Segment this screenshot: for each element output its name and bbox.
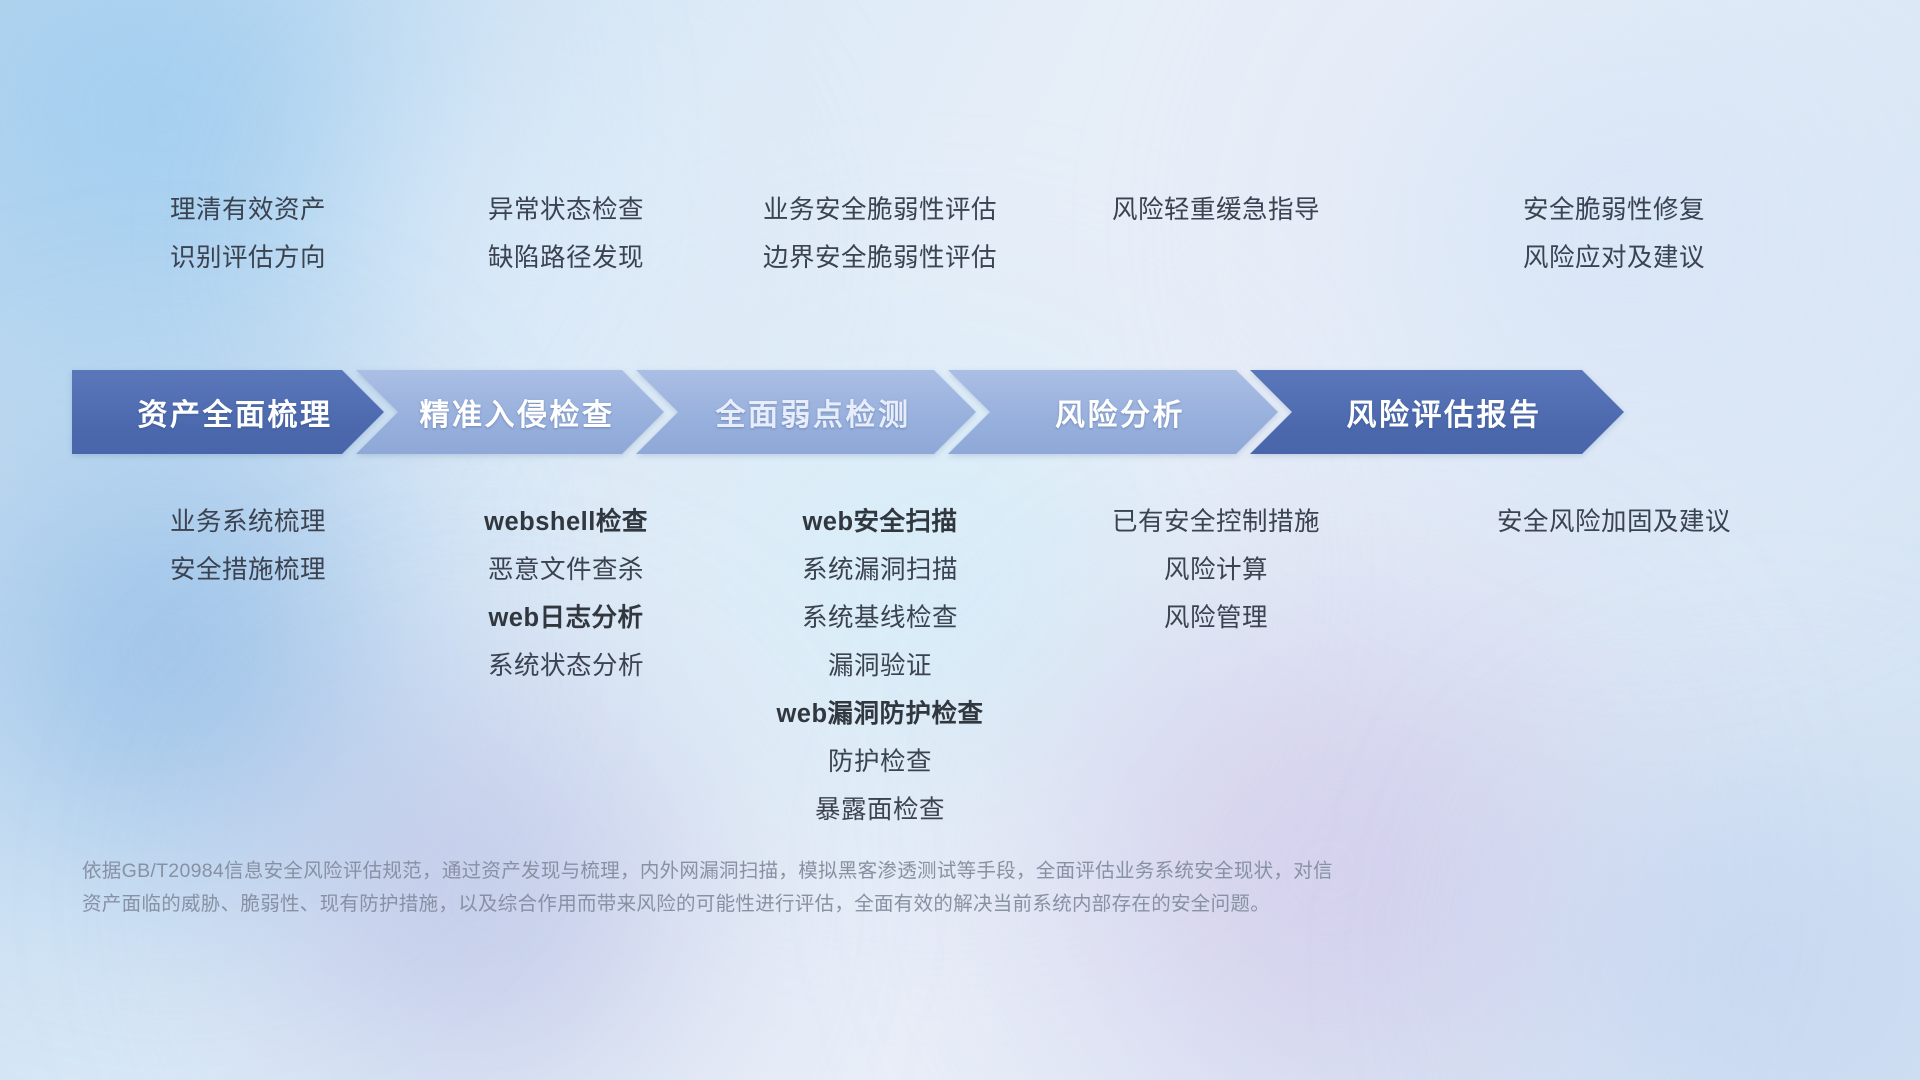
bottom-notes-risk-analysis: 已有安全控制措施 风险计算 风险管理	[1046, 498, 1386, 642]
note-item: 风险轻重缓急指导	[1046, 186, 1386, 234]
chevron-stage-intrusion-check[interactable]: 精准入侵检查	[356, 370, 664, 454]
chevron-label: 资产全面梳理	[124, 390, 333, 434]
note-item: 业务系统梳理	[78, 498, 418, 546]
top-notes-asset-review: 理清有效资产 识别评估方向	[78, 186, 418, 282]
note-item: web漏洞防护检查	[714, 690, 1046, 738]
note-item: 业务安全脆弱性评估	[714, 186, 1046, 234]
note-item: 系统状态分析	[418, 642, 714, 690]
note-item: web日志分析	[418, 594, 714, 642]
note-item: web安全扫描	[714, 498, 1046, 546]
top-notes-risk-report: 安全脆弱性修复 风险应对及建议	[1386, 186, 1842, 282]
note-item: 安全措施梳理	[78, 546, 418, 594]
bottom-notes-weakness-detection: web安全扫描 系统漏洞扫描 系统基线检查 漏洞验证 web漏洞防护检查 防护检…	[714, 498, 1046, 834]
note-item: 缺陷路径发现	[418, 234, 714, 282]
bottom-notes-asset-review: 业务系统梳理 安全措施梳理	[78, 498, 418, 594]
footer-line-1: 依据GB/T20984信息安全风险评估规范，通过资产发现与梳理，内外网漏洞扫描，…	[82, 855, 1542, 888]
note-item: 暴露面检查	[714, 786, 1046, 834]
note-item: 安全脆弱性修复	[1386, 186, 1842, 234]
note-item: 漏洞验证	[714, 642, 1046, 690]
note-item: 风险应对及建议	[1386, 234, 1842, 282]
chevron-stage-risk-analysis[interactable]: 风险分析	[948, 370, 1278, 454]
footer-description: 依据GB/T20984信息安全风险评估规范，通过资产发现与梳理，内外网漏洞扫描，…	[82, 855, 1542, 921]
chevron-label: 风险分析	[1041, 390, 1185, 434]
chevron-band: 资产全面梳理 精准入侵检查 全面弱点检测 风险分析 风险评估报告	[72, 370, 1848, 454]
chevron-stage-weakness-detection[interactable]: 全面弱点检测	[636, 370, 976, 454]
note-item: 识别评估方向	[78, 234, 418, 282]
note-item: 异常状态检查	[418, 186, 714, 234]
top-notes-intrusion-check: 异常状态检查 缺陷路径发现	[418, 186, 714, 282]
note-item: 边界安全脆弱性评估	[714, 234, 1046, 282]
footer-line-2: 资产面临的威胁、脆弱性、现有防护措施，以及综合作用而带来风险的可能性进行评估，全…	[82, 888, 1542, 921]
top-notes-row: 理清有效资产 识别评估方向 异常状态检查 缺陷路径发现 业务安全脆弱性评估 边界…	[78, 186, 1842, 282]
top-notes-risk-analysis: 风险轻重缓急指导	[1046, 186, 1386, 234]
note-item: 安全风险加固及建议	[1386, 498, 1842, 546]
note-item: 风险计算	[1046, 546, 1386, 594]
note-item: 防护检查	[714, 738, 1046, 786]
bottom-notes-risk-report: 安全风险加固及建议	[1386, 498, 1842, 546]
chevron-label: 风险评估报告	[1333, 390, 1542, 434]
note-item: 恶意文件查杀	[418, 546, 714, 594]
chevron-stage-risk-report[interactable]: 风险评估报告	[1250, 370, 1624, 454]
note-item: 系统基线检查	[714, 594, 1046, 642]
note-item: 系统漏洞扫描	[714, 546, 1046, 594]
top-notes-weakness-detection: 业务安全脆弱性评估 边界安全脆弱性评估	[714, 186, 1046, 282]
bottom-notes-intrusion-check: webshell检查 恶意文件查杀 web日志分析 系统状态分析	[418, 498, 714, 690]
note-item: 理清有效资产	[78, 186, 418, 234]
bottom-notes-row: 业务系统梳理 安全措施梳理 webshell检查 恶意文件查杀 web日志分析 …	[78, 498, 1842, 834]
note-item: 已有安全控制措施	[1046, 498, 1386, 546]
chevron-label: 全面弱点检测	[702, 390, 911, 434]
note-item: 风险管理	[1046, 594, 1386, 642]
chevron-label: 精准入侵检查	[406, 390, 615, 434]
note-item: webshell检查	[418, 498, 714, 546]
chevron-stage-asset-review[interactable]: 资产全面梳理	[72, 370, 384, 454]
